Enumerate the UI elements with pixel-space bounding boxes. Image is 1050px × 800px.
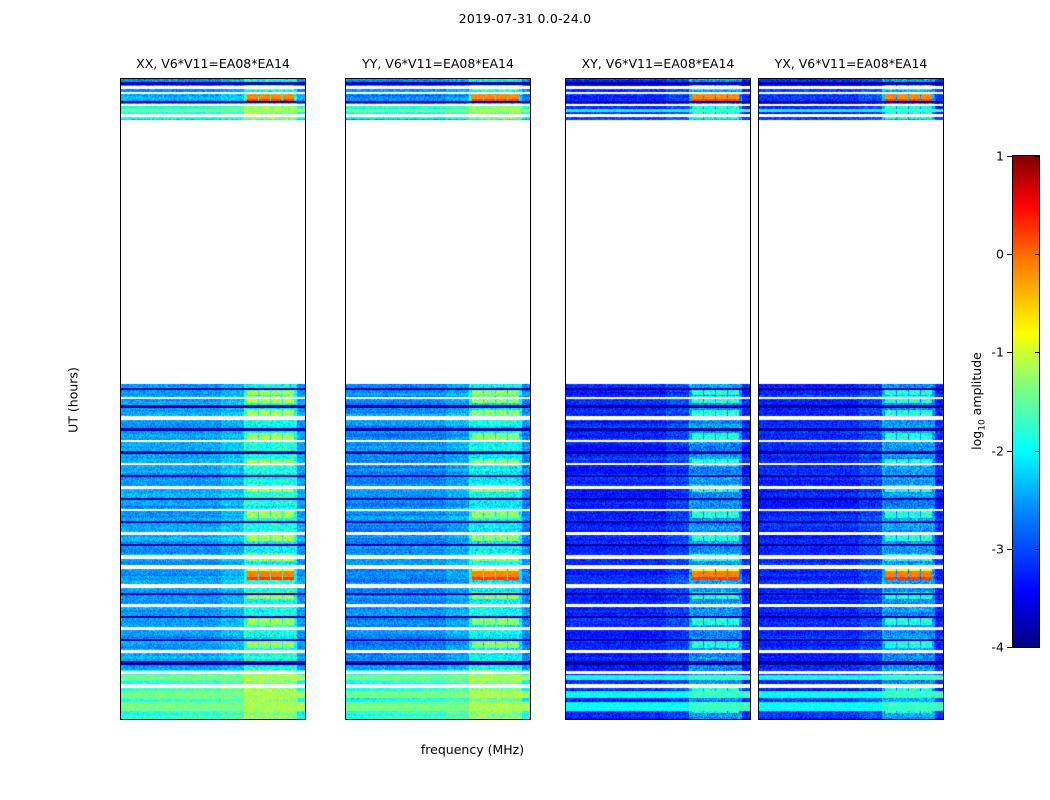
spectrogram-panel-yx[interactable]: 05101520320335350365380 [758,78,944,720]
spectrogram-image [566,79,750,719]
y-tick-mark [758,142,759,143]
panel-title-yx: YX, V6*V11=EA08*EA14 [758,56,944,74]
x-tick-mark [396,719,397,720]
y-tick-mark [345,142,346,143]
y-tick-mark [120,287,121,288]
x-tick-mark [354,719,355,720]
y-tick-mark-right [943,142,944,143]
y-tick-mark [565,431,566,432]
y-tick-mark [345,719,346,720]
x-tick-mark [129,719,130,720]
x-tick-mark [438,719,439,720]
colorbar-label-prefix: log [969,431,984,450]
x-tick-mark [893,719,894,720]
x-tick-mark [616,719,617,720]
spectrogram-image [121,79,305,719]
y-tick-mark [120,431,121,432]
y-tick-mark-right [530,287,531,288]
spectrogram-panel-xy[interactable]: 05101520320335350365380 [565,78,751,720]
y-tick-mark [345,287,346,288]
colorbar-tick-mark [1007,647,1013,648]
colorbar-label-sub: 10 [977,419,987,430]
y-tick-mark [565,142,566,143]
x-tick-mark [480,719,481,720]
y-tick-mark-right [305,719,306,720]
figure-suptitle: 2019-07-31 0.0-24.0 [0,11,1050,26]
y-tick-mark-right [750,575,751,576]
y-tick-mark-right [943,287,944,288]
y-tick-mark [120,575,121,576]
y-tick-mark [758,287,759,288]
figure-canvas: 2019-07-31 0.0-24.0 UT (hours) frequency… [0,0,1050,800]
spectrogram-image [759,79,943,719]
y-tick-mark [345,575,346,576]
y-tick-mark [345,431,346,432]
y-tick-mark-right [305,142,306,143]
colorbar[interactable]: 10-1-2-3-4 [1012,155,1040,648]
y-tick-mark [758,719,759,720]
x-tick-mark [213,719,214,720]
y-tick-mark-right [530,431,531,432]
y-tick-mark-right [530,142,531,143]
x-tick-mark [809,719,810,720]
colorbar-tick-mark [1007,254,1013,255]
y-tick-mark-right [530,719,531,720]
x-tick-mark [658,719,659,720]
colorbar-tick-label: -2 [992,443,1004,458]
x-tick-mark [700,719,701,720]
y-tick-mark [120,142,121,143]
y-tick-mark-right [305,431,306,432]
colorbar-tick-label: -4 [992,640,1004,655]
y-tick-mark-right [750,287,751,288]
y-tick-mark-right [750,142,751,143]
x-tick-mark [574,719,575,720]
x-tick-mark [171,719,172,720]
colorbar-tick-mark-inner [1035,549,1039,550]
x-axis-label: frequency (MHz) [0,742,945,757]
y-tick-mark-right [943,719,944,720]
y-tick-mark-right [750,719,751,720]
y-tick-mark-right [530,575,531,576]
y-tick-mark [758,431,759,432]
colorbar-tick-mark-inner [1035,156,1039,157]
x-tick-mark [742,719,743,720]
spectrogram-panel-xx[interactable]: 05101520320335350365380 [120,78,306,720]
colorbar-tick-mark [1007,451,1013,452]
x-tick-mark [767,719,768,720]
y-tick-mark-right [943,575,944,576]
colorbar-tick-label: -1 [992,345,1004,360]
x-tick-mark [851,719,852,720]
spectrogram-panel-yy[interactable]: 05101520320335350365380 [345,78,531,720]
y-tick-mark [758,575,759,576]
y-tick-mark [565,575,566,576]
colorbar-tick-mark-inner [1035,352,1039,353]
y-tick-mark [565,287,566,288]
y-tick-mark-right [305,287,306,288]
colorbar-tick-mark-inner [1035,451,1039,452]
panel-title-yy: YY, V6*V11=EA08*EA14 [345,56,531,74]
colorbar-tick-label: 1 [996,149,1004,164]
y-tick-mark [120,719,121,720]
x-tick-mark [935,719,936,720]
x-tick-mark [522,719,523,720]
colorbar-label: log10 amplitude [969,352,988,450]
colorbar-label-suffix: amplitude [969,352,984,419]
y-axis-label: UT (hours) [65,367,80,433]
y-tick-mark-right [750,431,751,432]
spectrogram-image [346,79,530,719]
colorbar-tick-mark [1007,549,1013,550]
y-tick-mark-right [305,575,306,576]
colorbar-tick-label: -3 [992,541,1004,556]
colorbar-tick-mark-inner [1035,647,1039,648]
panel-title-xx: XX, V6*V11=EA08*EA14 [120,56,306,74]
colorbar-tick-mark [1007,156,1013,157]
x-tick-mark [255,719,256,720]
colorbar-tick-label: 0 [996,247,1004,262]
colorbar-tick-mark [1007,352,1013,353]
colorbar-tick-mark-inner [1035,254,1039,255]
panel-title-xy: XY, V6*V11=EA08*EA14 [565,56,751,74]
y-tick-mark [565,719,566,720]
y-tick-mark-right [943,431,944,432]
x-tick-mark [297,719,298,720]
